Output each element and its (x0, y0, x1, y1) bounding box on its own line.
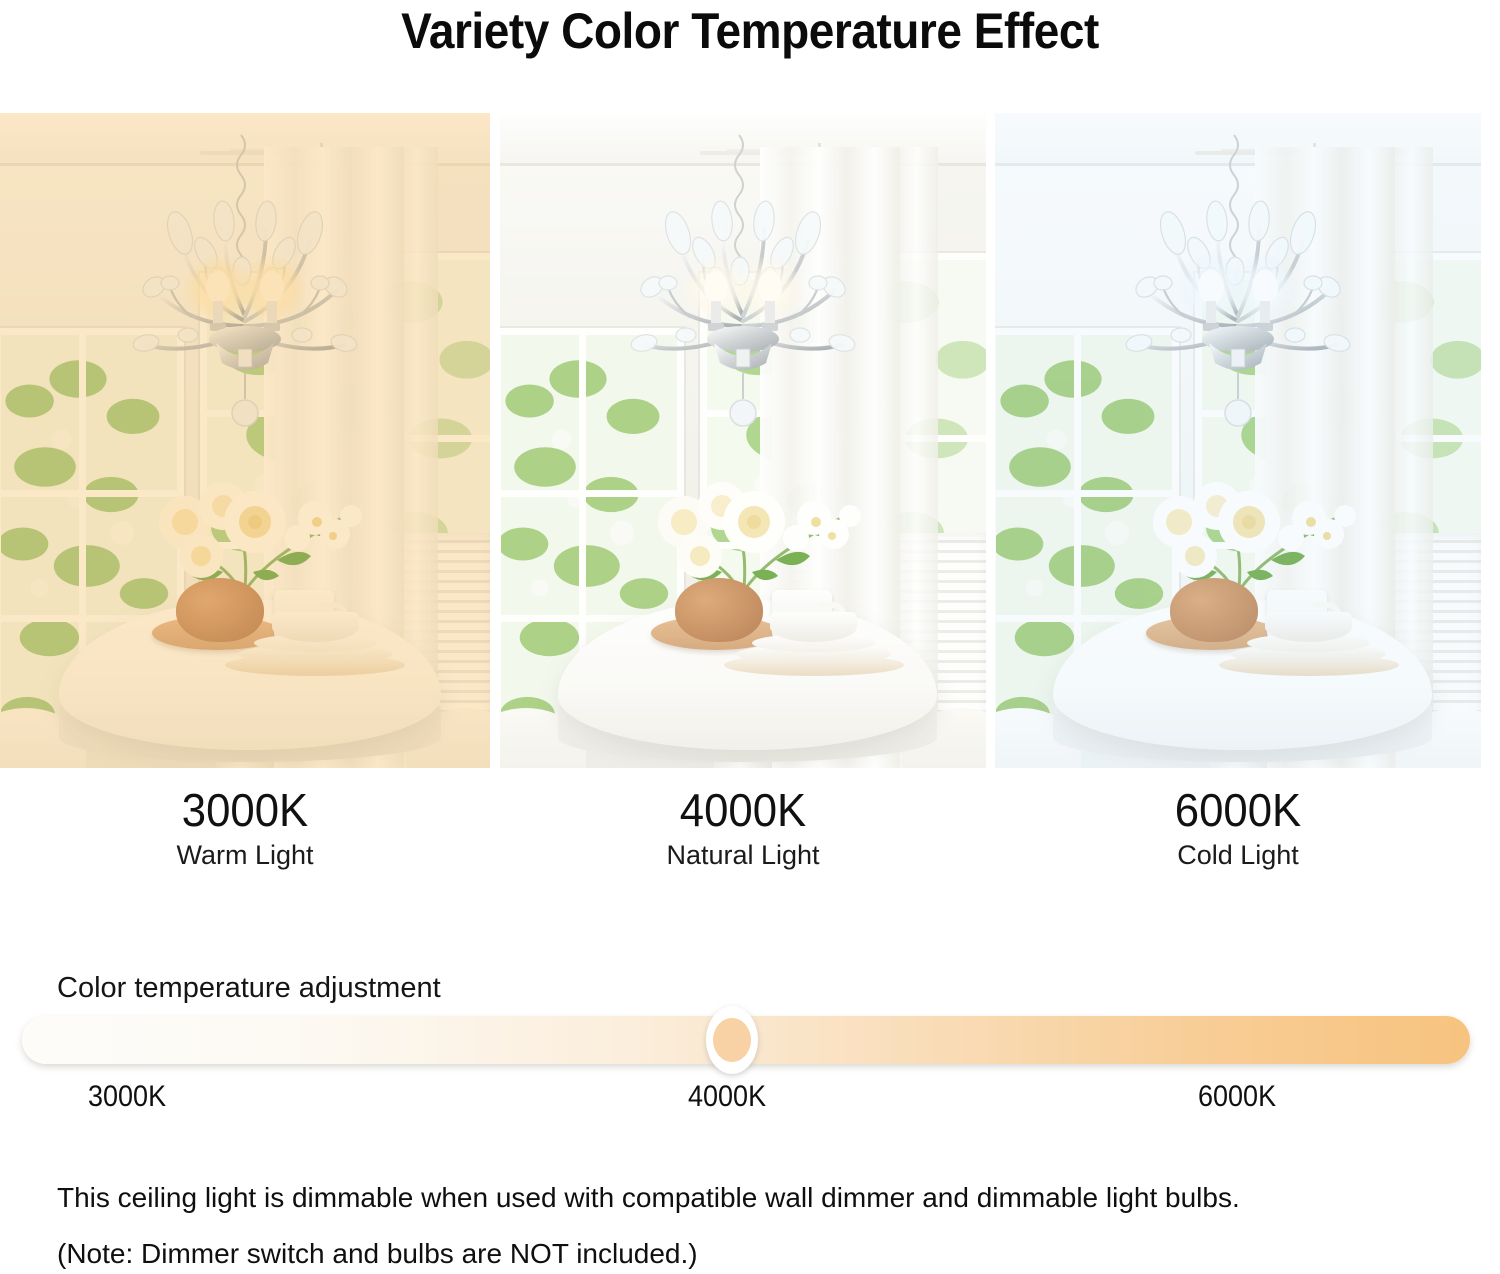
caption-4000k: 4000K Natural Light (500, 786, 986, 871)
panel-captions: 3000K Warm Light 4000K Natural Light 600… (0, 786, 1500, 896)
plate-stack (225, 618, 405, 676)
color-temperature-panels (0, 113, 1500, 768)
plate-stack (724, 618, 904, 676)
temperature-name: Natural Light (500, 840, 986, 871)
room-scene-cold (995, 113, 1481, 768)
temperature-name: Cold Light (995, 840, 1481, 871)
room-scene-natural (500, 113, 986, 768)
temperature-value: 6000K (1007, 786, 1469, 834)
slider-tick-3000k: 3000K (88, 1080, 166, 1114)
caption-6000k: 6000K Cold Light (995, 786, 1481, 871)
slider-ticks: 3000K 4000K 6000K (0, 1080, 1500, 1122)
plate-stack (1219, 618, 1399, 676)
scene-panel-3000k (0, 113, 490, 768)
slider-thumb[interactable] (706, 1006, 758, 1074)
temperature-value: 3000K (12, 786, 478, 834)
scene-panel-4000k (500, 113, 986, 768)
flower-bouquet-icon (626, 460, 866, 590)
slider-tick-6000k: 6000K (1198, 1080, 1276, 1114)
not-included-note: (Note: Dimmer switch and bulbs are NOT i… (57, 1238, 698, 1270)
temperature-value: 4000K (512, 786, 974, 834)
page-title: Variety Color Temperature Effect (60, 2, 1440, 60)
dimmable-note: This ceiling light is dimmable when used… (57, 1182, 1240, 1214)
bowl (770, 612, 856, 642)
temperature-name: Warm Light (0, 840, 490, 871)
scene-panel-6000k (995, 113, 1481, 768)
slider-label: Color temperature adjustment (57, 972, 441, 1005)
slider-tick-4000k: 4000K (688, 1080, 766, 1114)
caption-3000k: 3000K Warm Light (0, 786, 490, 871)
flower-bouquet-icon (127, 460, 367, 590)
bowl (1265, 612, 1351, 642)
room-scene-warm (0, 113, 490, 768)
slider-thumb-fill (713, 1018, 751, 1062)
bowl (272, 612, 358, 642)
flower-bouquet-icon (1121, 460, 1361, 590)
